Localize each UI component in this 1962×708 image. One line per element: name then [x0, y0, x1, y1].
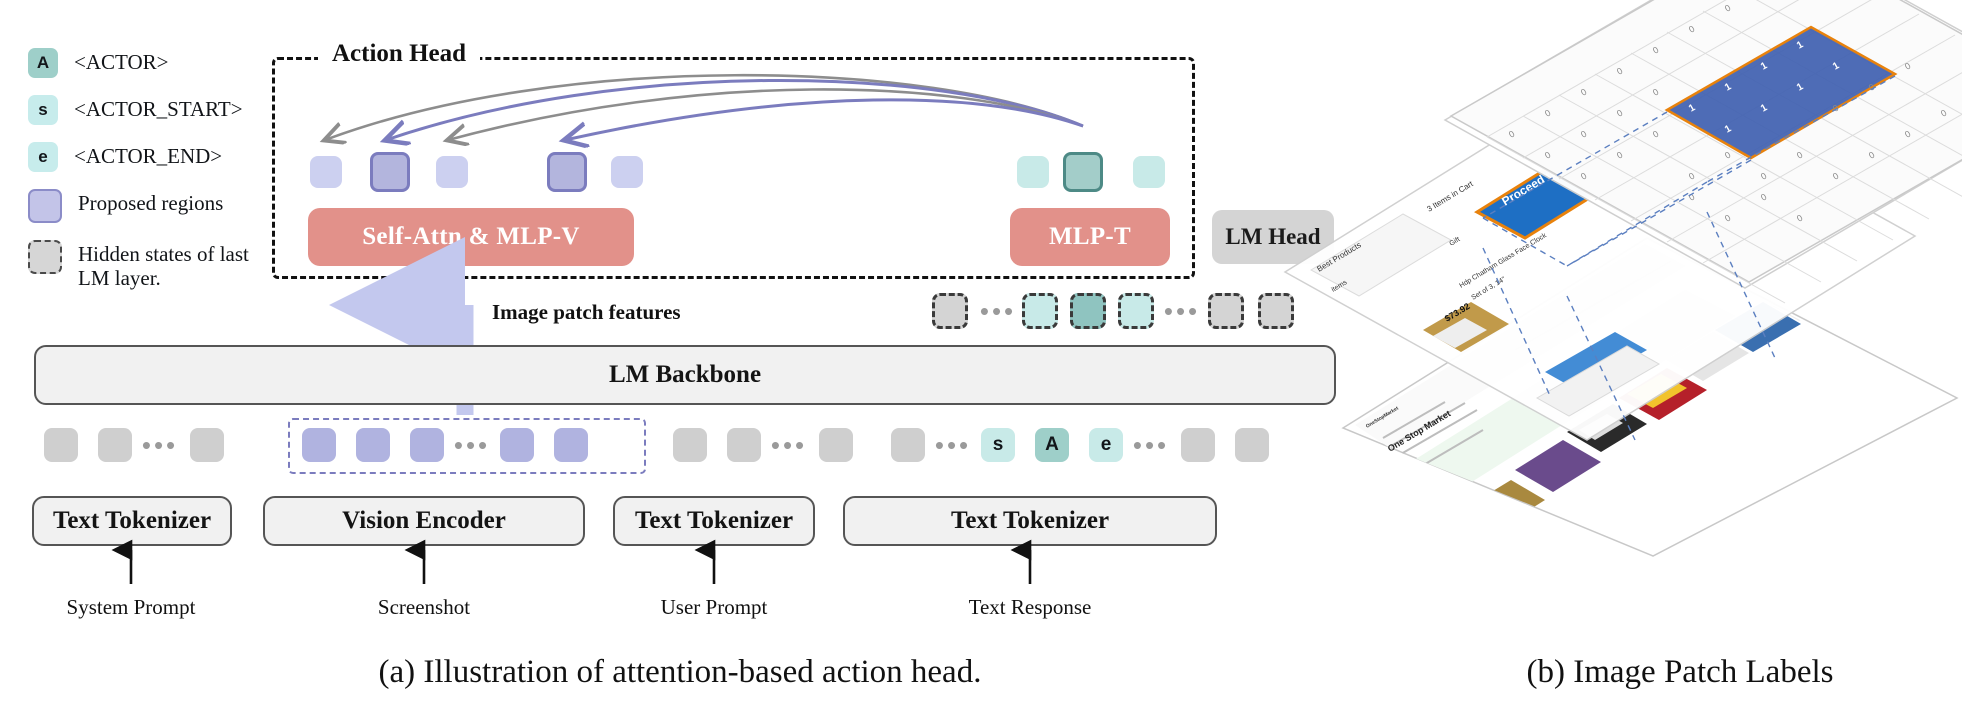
lm-backbone: LM Backbone	[34, 345, 1336, 405]
user-token-3	[819, 428, 853, 462]
vision-patch-token-4	[500, 428, 534, 462]
hidden-state-ellipsis-1: •••	[978, 293, 1018, 329]
vision-patch-token-3	[410, 428, 444, 462]
text-tokenizer-response: Text Tokenizer	[843, 496, 1217, 546]
self-attn-mlp-v-module: Self-Attn & MLP-V	[308, 208, 634, 266]
mlp-t-module: MLP-T	[1010, 208, 1170, 266]
legend-label-proposed-regions: Proposed regions	[78, 189, 223, 216]
vision-token-1	[310, 156, 342, 188]
legend-label-actor-start: <ACTOR_START>	[74, 95, 243, 122]
hidden-state-token-actor	[1070, 293, 1106, 329]
response-token-ellipsis-2: •••	[1131, 428, 1171, 462]
hidden-state-token-end	[1118, 293, 1154, 329]
hidden-state-token-start	[1022, 293, 1058, 329]
response-token-actor-end: e	[1089, 428, 1123, 462]
caption-b: (b) Image Patch Labels	[1430, 650, 1930, 694]
source-label-text-response: Text Response	[930, 594, 1130, 620]
vision-token-2	[436, 156, 468, 188]
vision-token-3	[611, 156, 643, 188]
legend-label-actor-end: <ACTOR_END>	[74, 142, 222, 169]
text-tokenizer-user: Text Tokenizer	[613, 496, 815, 546]
system-token-1	[44, 428, 78, 462]
vision-encoder: Vision Encoder	[263, 496, 585, 546]
text-token-2	[1133, 156, 1165, 188]
source-label-system-prompt: System Prompt	[31, 594, 231, 620]
system-token-2	[98, 428, 132, 462]
image-patch-features-label: Image patch features	[492, 300, 681, 325]
text-token-1	[1017, 156, 1049, 188]
response-token-2	[1181, 428, 1215, 462]
legend-label-actor: <ACTOR>	[74, 48, 168, 75]
legend-swatch-actor-end: e	[28, 142, 58, 172]
response-token-actor-start: s	[981, 428, 1015, 462]
system-token-ellipsis: •••	[140, 428, 180, 462]
figure-root: A <ACTOR> s <ACTOR_START> e <ACTOR_END> …	[0, 0, 1962, 708]
legend-swatch-actor: A	[28, 48, 58, 78]
vision-patch-token-5	[554, 428, 588, 462]
user-token-2	[727, 428, 761, 462]
vision-patch-token-1	[302, 428, 336, 462]
text-token-actor	[1063, 152, 1103, 192]
vision-token-region-1	[370, 152, 410, 192]
hidden-state-ellipsis-2: •••	[1162, 293, 1202, 329]
caption-a: (a) Illustration of attention-based acti…	[180, 650, 1180, 694]
action-head-title: Action Head	[318, 40, 480, 68]
legend-label-hidden-states: Hidden states of last LM layer.	[78, 240, 278, 290]
image-patch-labels-illustration: One Stop Market OneStopMarket Best Produ…	[1215, 0, 1962, 560]
legend-swatch-actor-start: s	[28, 95, 58, 125]
legend-swatch-hidden-states	[28, 240, 62, 274]
source-label-user-prompt: User Prompt	[614, 594, 814, 620]
response-token-ellipsis-1: •••	[933, 428, 973, 462]
user-token-1	[673, 428, 707, 462]
hidden-state-token-1	[932, 293, 968, 329]
vision-token-region-2	[547, 152, 587, 192]
legend-swatch-proposed-regions	[28, 189, 62, 223]
source-label-screenshot: Screenshot	[324, 594, 524, 620]
response-token-actor: A	[1035, 428, 1069, 462]
user-token-ellipsis: •••	[769, 428, 809, 462]
response-token-1	[891, 428, 925, 462]
vision-patch-token-2	[356, 428, 390, 462]
system-token-3	[190, 428, 224, 462]
text-tokenizer-system: Text Tokenizer	[32, 496, 232, 546]
vision-patch-ellipsis: •••	[452, 428, 492, 462]
